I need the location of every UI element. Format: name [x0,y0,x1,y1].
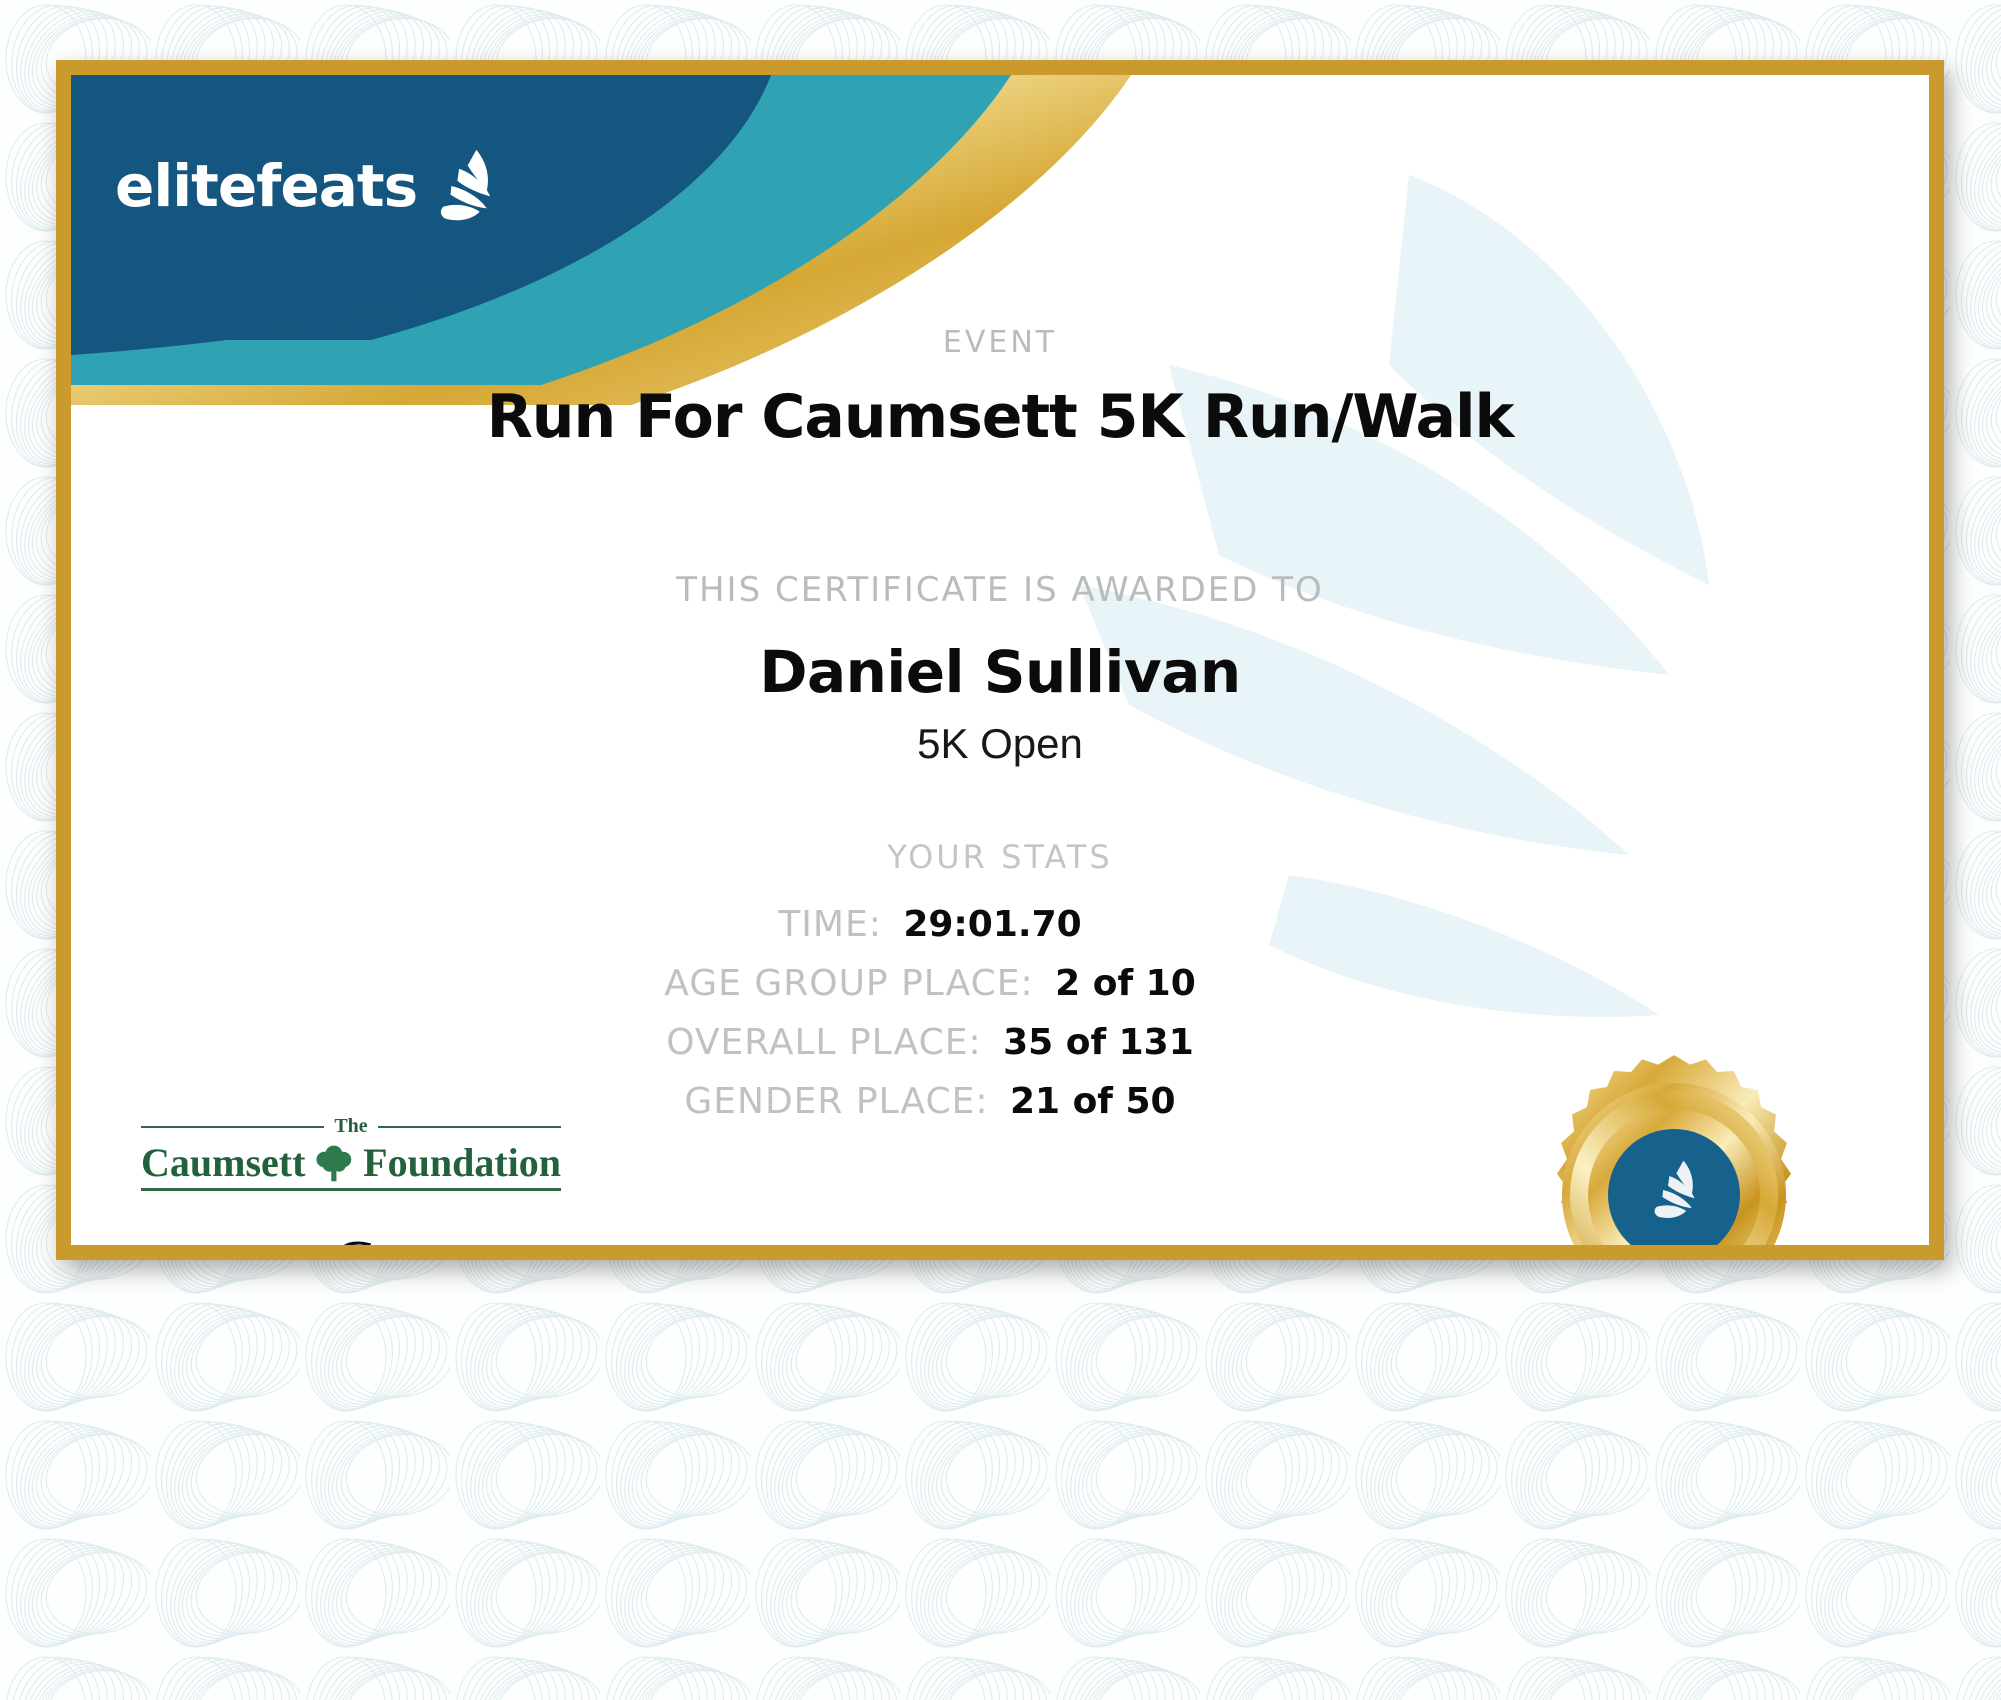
awarded-to-label: THIS CERTIFICATE IS AWARDED TO [71,570,1929,610]
finisher-medal: 2025 FINIS [1509,1055,1839,1260]
tree-icon [313,1140,355,1186]
stat-key: TIME: [778,904,882,945]
certificate-body: EVENT Run For Caumsett 5K Run/Walk THIS … [71,325,1929,1122]
brand-logo: elitefeats [115,143,509,229]
stat-value: 35 of 131 [1003,1022,1194,1063]
foundation-left-word: Caumsett [141,1142,305,1184]
caumsett-foundation-logo: The Caumsett [141,1115,561,1191]
stat-row: AGE GROUP PLACE: 2 of 10 [71,963,1789,1004]
run-for-caumsett-logo: Run for Caumsett [141,1227,561,1260]
stat-value: 2 of 10 [1055,963,1196,1004]
your-stats-label: YOUR STATS [71,838,1929,876]
stat-key: AGE GROUP PLACE: [664,963,1033,1004]
division-name: 5K Open [71,720,1929,768]
sponsor-logos: The Caumsett [141,1115,561,1260]
foundation-the-word: The [334,1115,367,1138]
winged-foot-icon [423,143,509,229]
medal-graphic: 2025 [1534,1055,1814,1260]
certificate-frame: elitefeats EVENT Run For Caumsett 5K Run… [56,60,1944,1260]
foundation-name-row: Caumsett Foundation [141,1140,561,1186]
rfc-suffix: aumsett [377,1244,516,1260]
event-label: EVENT [71,325,1929,360]
foundation-right-word: Foundation [363,1142,561,1184]
event-name: Run For Caumsett 5K Run/Walk [71,382,1929,452]
stat-value: 21 of 50 [1010,1081,1176,1122]
certificate-page: elitefeats EVENT Run For Caumsett 5K Run… [0,0,2001,1700]
rfc-big-letter: C [334,1228,376,1260]
stat-row: TIME: 29:01.70 [71,904,1789,945]
brand-wordmark: elitefeats [115,157,417,215]
recipient-name: Daniel Sullivan [71,638,1929,706]
rfc-prefix: Run for [186,1244,334,1260]
stat-key: GENDER PLACE: [684,1081,988,1122]
stat-value: 29:01.70 [903,904,1081,945]
stat-key: OVERALL PLACE: [666,1022,981,1063]
